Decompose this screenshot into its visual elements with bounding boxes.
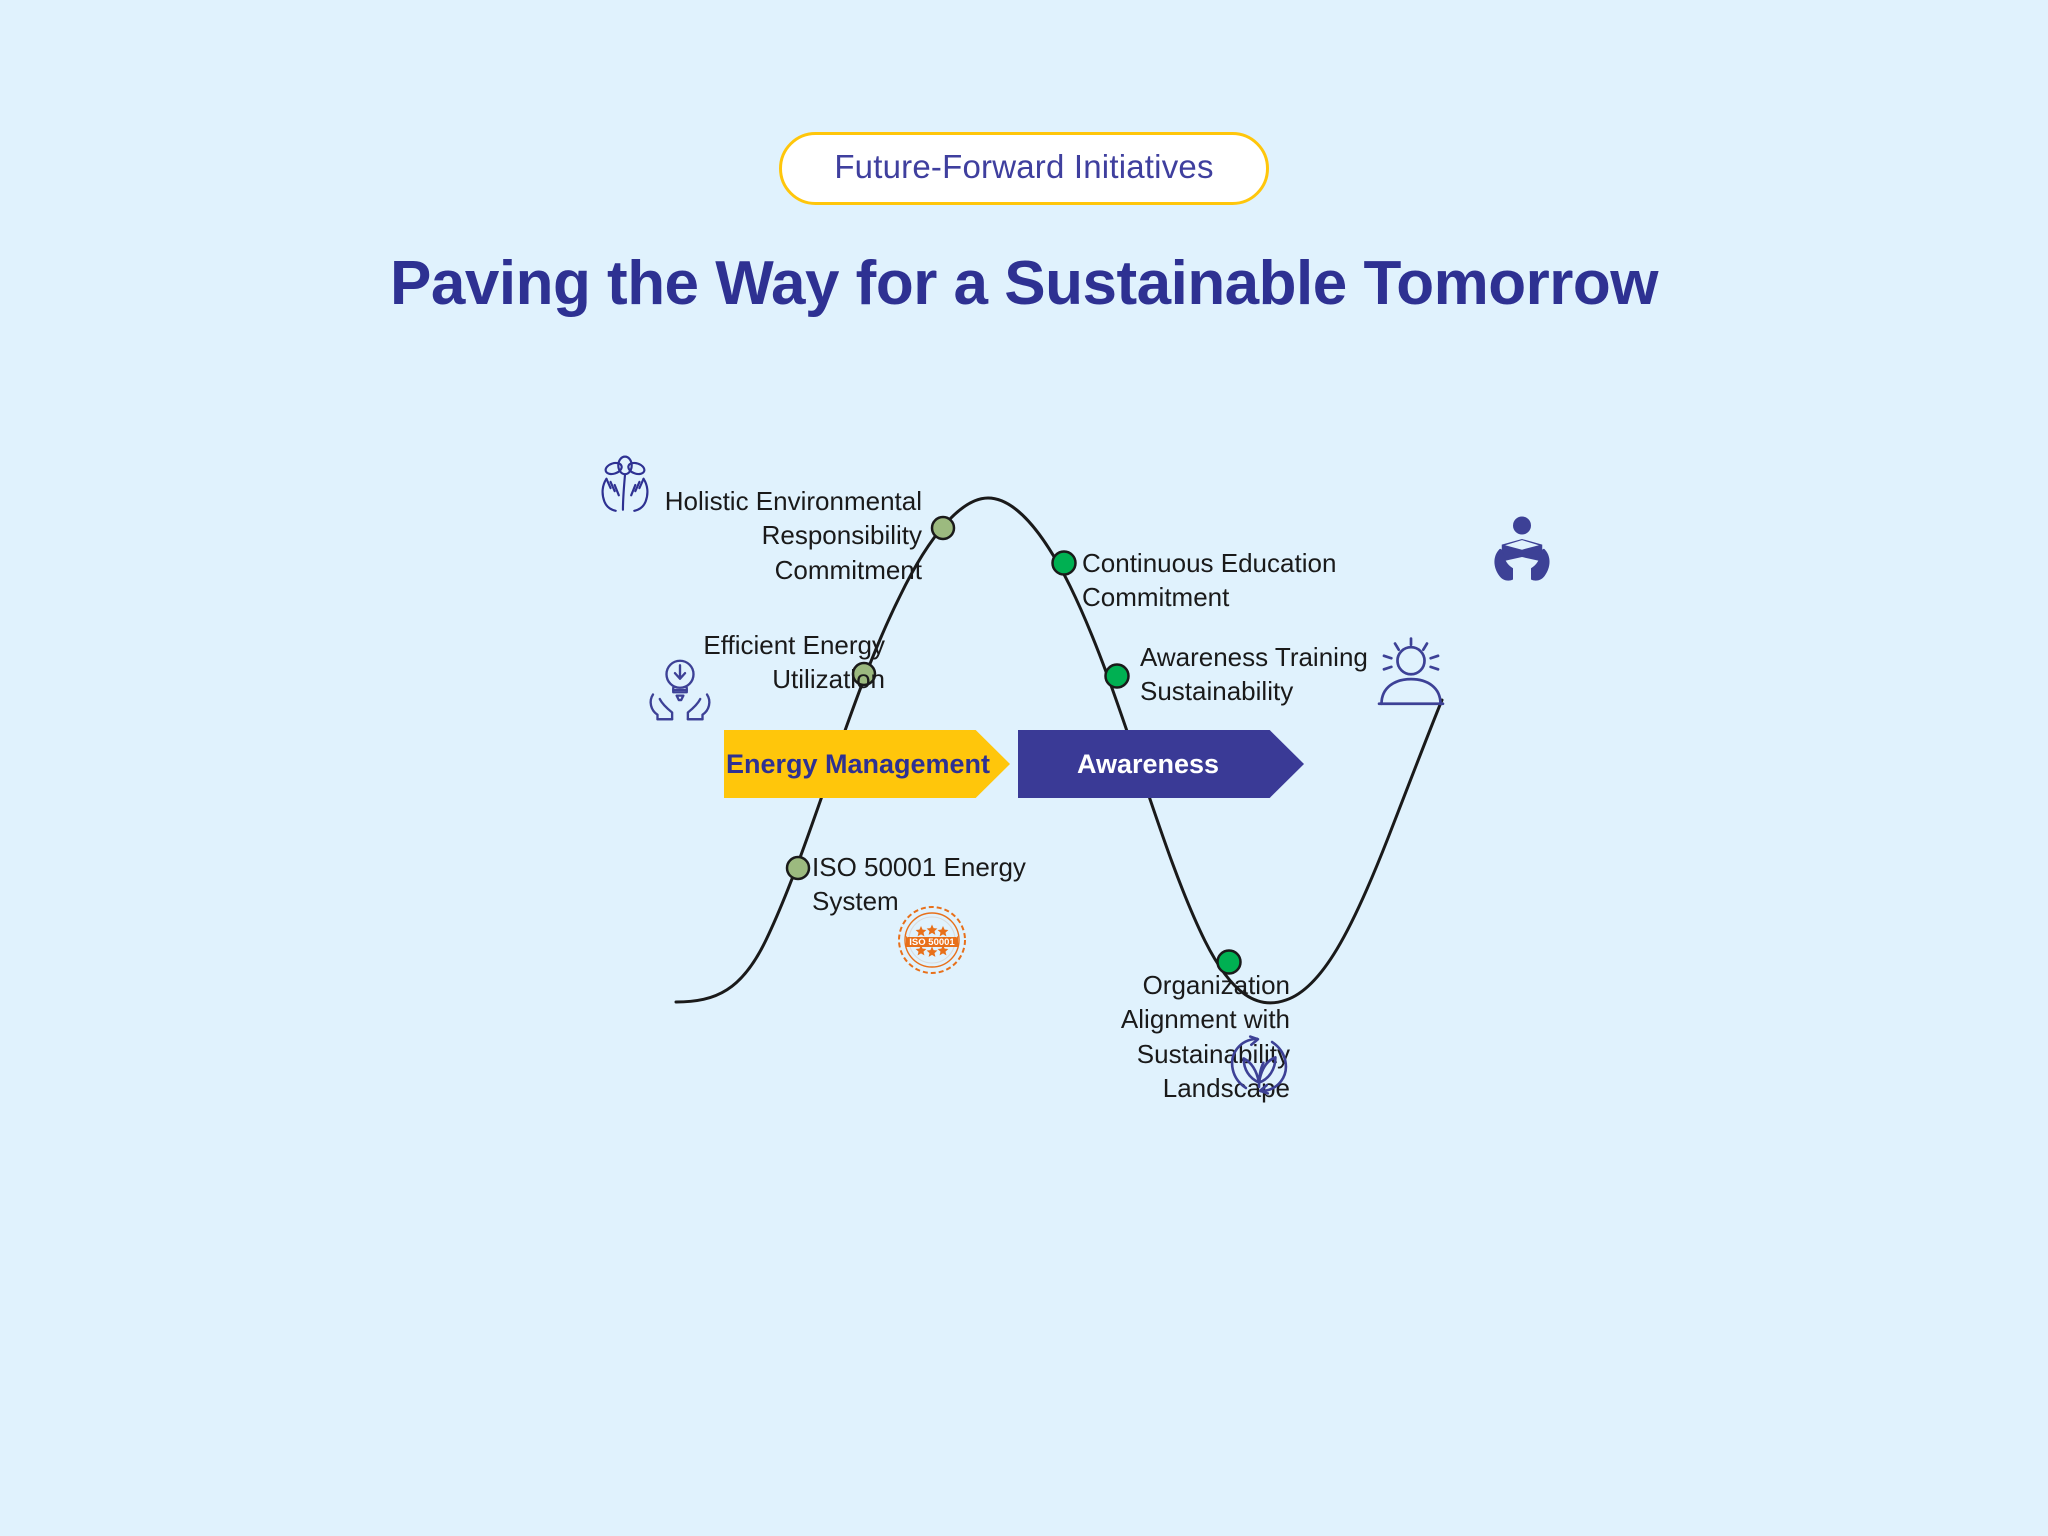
chevron-energy-management-label: Energy Management [724,749,1010,780]
node-label-holistic-environmental-responsibility-commitment: Holistic Environmental Responsibility Co… [612,484,922,587]
page-title: Paving the Way for a Sustainable Tomorro… [0,248,2048,319]
hands-holding-book-icon [1486,512,1558,584]
slide-root: Future-Forward Initiatives Paving the Wa… [0,0,2048,1536]
person-with-rays-icon [1368,630,1454,716]
eyebrow-badge: Future-Forward Initiatives [779,132,1268,205]
node-dot-continuous-education-commitment[interactable] [1053,552,1076,575]
node-label-awareness-training-sustainability: Awareness Training Sustainability [1140,640,1370,709]
chevron-awareness[interactable]: Awareness [1018,730,1304,798]
node-label-continuous-education-commitment: Continuous Education Commitment [1082,546,1482,615]
iso-50001-certification-badge-icon: ISO 50001 [892,900,972,980]
chevron-awareness-label: Awareness [1018,749,1304,780]
iso-badge-text: ISO 50001 [909,937,955,948]
eyebrow-badge-wrap: Future-Forward Initiatives [0,132,2048,205]
hands-holding-flower-icon [592,452,658,518]
node-dot-iso-50001-energy-system[interactable] [787,857,809,879]
recycling-leaf-icon [1224,1030,1294,1100]
hands-holding-lightbulb-icon [644,654,716,726]
node-dot-holistic-environmental-responsibility-commitment[interactable] [932,517,954,539]
node-dot-awareness-training-sustainability[interactable] [1106,665,1129,688]
chevron-energy-management[interactable]: Energy Management [724,730,1010,798]
